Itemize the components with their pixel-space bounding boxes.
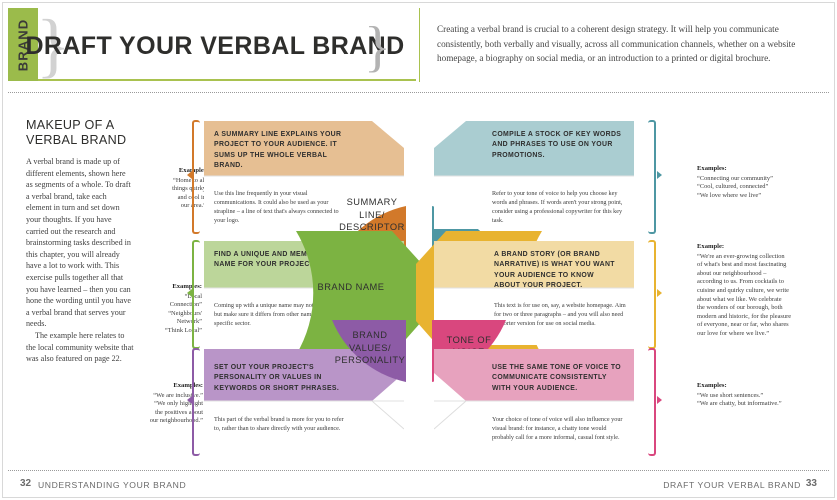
example-title: Examples: [697,382,832,391]
example-line: Network” [122,318,202,327]
example-line: our neighbourhood.” [117,417,203,426]
wedge-text: BRAND NAME [318,281,385,293]
decorative-brace-right-icon: } [364,20,390,74]
example-line: our love for where we live.” [697,330,832,339]
example-title: Examples: [117,382,203,391]
intro-heading-line-1: MAKEUP OF A [26,118,114,132]
intro-column: MAKEUP OF A VERBAL BRAND A verbal brand … [26,118,134,365]
segment-card-tone-of-voice[interactable]: USE THE SAME TONE OF VOICE TO COMMUNICAT… [434,349,634,453]
footer-label-right: DRAFT YOUR VERBAL BRAND [663,480,801,490]
bracket-brand-values [192,348,201,452]
header-intro-text: Creating a verbal brand is crucial to a … [437,22,819,66]
example-line: modern and historic, for the pleasure [697,313,832,322]
example-title: Example: [697,243,832,252]
example-line: of what's best and most fascinating [697,261,832,270]
example-line: of everyone, near or far, who shares [697,321,832,330]
footer-page-number-left: 32 [20,478,31,489]
example-line: according to us. From cocktails to [697,278,832,287]
footer-label-left: UNDERSTANDING YOUR BRAND [38,480,186,490]
example-line: “Neighbours' [122,310,202,319]
wedge-label-brand-name[interactable]: BRAND NAME [308,269,394,305]
example-line: “Connecting our community” [697,175,832,184]
example-line: about what we like. We celebrate [697,296,832,305]
intro-heading: MAKEUP OF A VERBAL BRAND [26,118,134,148]
example-callout-brand-story: Example: “We're an ever-growing collecti… [697,243,832,339]
header-intro-block: Creating a verbal brand is crucial to a … [437,22,819,66]
example-line: the wonders of our borough, both [697,304,832,313]
wedge-text: SUMMARY LINE/ DESCRIPTOR [336,196,408,233]
segment-body: Your choice of tone of voice will also i… [482,405,634,450]
example-line: about our neighbourhood – [697,270,832,279]
intro-paragraph-1: A verbal brand is made up of different e… [26,156,134,330]
segment-headline: USE THE SAME TONE OF VOICE TO COMMUNICAT… [482,354,634,403]
bracket-brand-story [648,240,657,345]
bracket-summary-line [192,120,201,230]
example-line: Connection” [122,301,202,310]
example-line: “Cool, cultured, connected” [697,183,832,192]
example-line: “We are chatty, but informative.” [697,400,832,409]
example-title: Examples: [697,165,832,174]
wedge-text: BRAND VALUES/ PERSONALITY [332,329,408,366]
footer-dotted-rule [8,470,829,471]
spread-page: BRAND } DRAFT YOUR VERBAL BRAND } Creati… [0,0,837,500]
page-title: DRAFT YOUR VERBAL BRAND [70,26,360,66]
example-callout-tone-of-voice: Examples: “We use short sentences.” “We … [697,382,832,409]
header-dotted-rule [8,92,829,93]
bracket-brand-name [192,240,201,345]
bracket-language [648,120,657,230]
example-line: “We're an ever-growing collection [697,253,832,262]
bracket-tone-of-voice [648,348,657,452]
example-line: cuisine and quirky culture, we write [697,287,832,296]
footer-page-number-right: 33 [806,478,817,489]
intro-heading-line-2: VERBAL BRAND [26,133,126,147]
header-divider [419,8,420,82]
example-line: “Think Local” [122,327,202,336]
example-line: the positives about [117,409,203,418]
example-line: “We love where we live” [697,192,832,201]
page-header: BRAND } DRAFT YOUR VERBAL BRAND } Creati… [0,0,837,88]
intro-paragraph-2: The example here relates to the local co… [26,330,134,365]
wedge-label-brand-values[interactable]: BRAND VALUES/ PERSONALITY [332,324,408,372]
example-line: “We use short sentences.” [697,392,832,401]
segment-headline: COMPILE A STOCK OF KEY WORDS AND PHRASES… [482,121,632,170]
example-callout-language: Examples: “Connecting our community” “Co… [697,165,832,200]
segment-card-language[interactable]: COMPILE A STOCK OF KEY WORDS AND PHRASES… [434,121,634,229]
segment-body: Refer to your tone of voice to help you … [482,179,634,229]
